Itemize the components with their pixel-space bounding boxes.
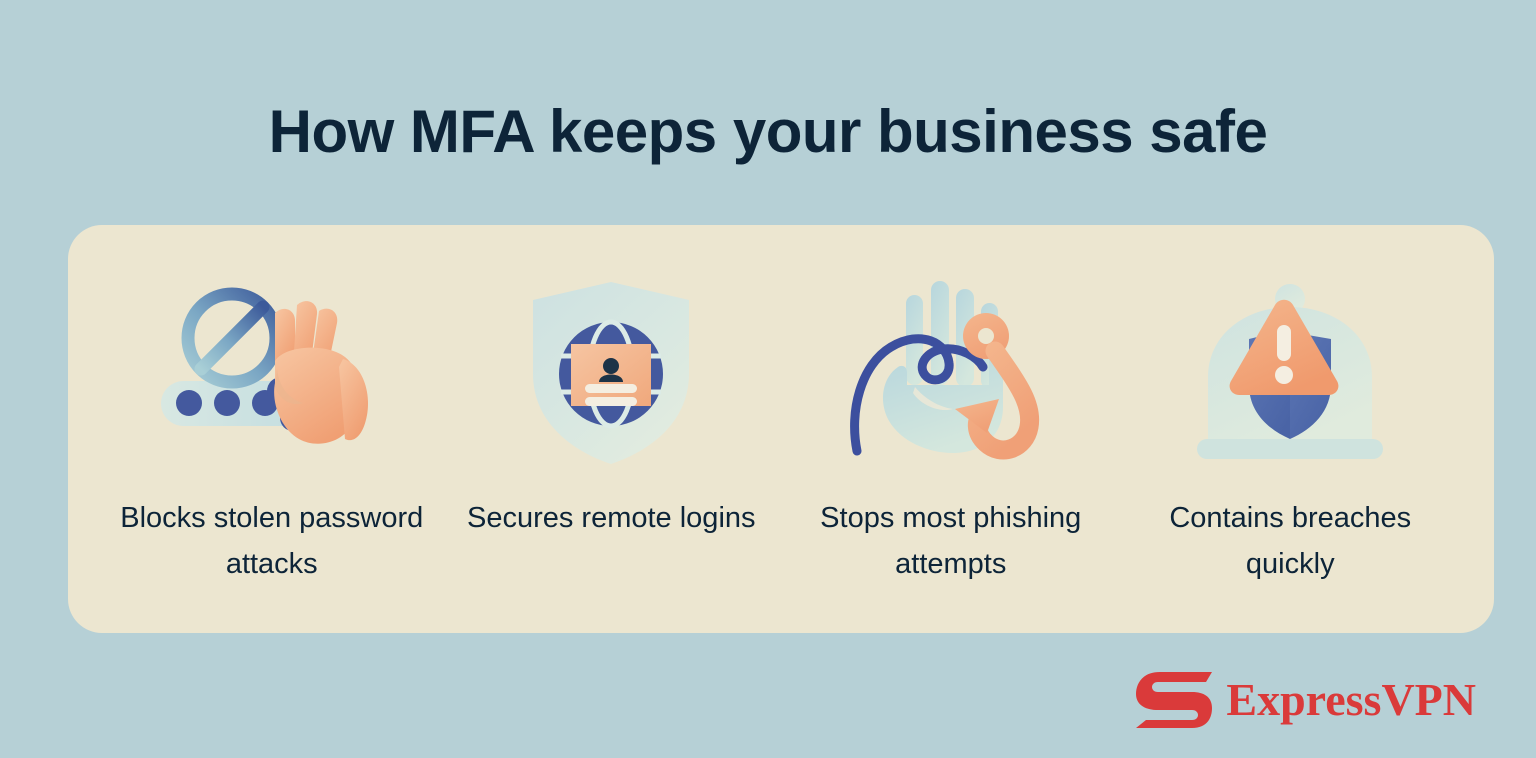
infographic-canvas: How MFA keeps your business safe (0, 0, 1536, 758)
benefit-item-contains-breaches: Contains breaches quickly (1121, 225, 1461, 587)
stop-hand-phishing-hook-icon-svg (843, 281, 1058, 466)
benefit-caption: Stops most phishing attempts (791, 495, 1111, 587)
benefit-caption: Contains breaches quickly (1130, 495, 1450, 587)
benefit-item-secures-remote-logins: Secures remote logins (442, 225, 782, 541)
benefit-caption: Blocks stolen password attacks (112, 495, 432, 587)
benefit-caption: Secures remote logins (467, 495, 756, 541)
cloche-cracked-shield-warning-icon-svg (1183, 281, 1398, 466)
benefit-item-blocks-stolen-passwords: Blocks stolen password attacks (102, 225, 442, 587)
benefits-card: Blocks stolen password attacks (68, 225, 1494, 633)
shield-globe-id-card-icon (496, 273, 726, 473)
expressvpn-e-mark-icon (1136, 670, 1212, 730)
blocked-password-hand-icon (157, 273, 387, 473)
shield-globe-id-card-icon-svg (521, 278, 701, 468)
expressvpn-wordmark: ExpressVPN (1226, 677, 1476, 723)
blocked-password-hand-icon-svg (157, 283, 387, 463)
page-title: How MFA keeps your business safe (0, 96, 1536, 168)
benefit-item-stops-phishing: Stops most phishing attempts (781, 225, 1121, 587)
stop-hand-phishing-hook-icon (836, 273, 1066, 473)
cloche-cracked-shield-warning-icon (1175, 273, 1405, 473)
expressvpn-logo[interactable]: ExpressVPN (1136, 670, 1476, 730)
benefits-list: Blocks stolen password attacks (68, 225, 1494, 633)
